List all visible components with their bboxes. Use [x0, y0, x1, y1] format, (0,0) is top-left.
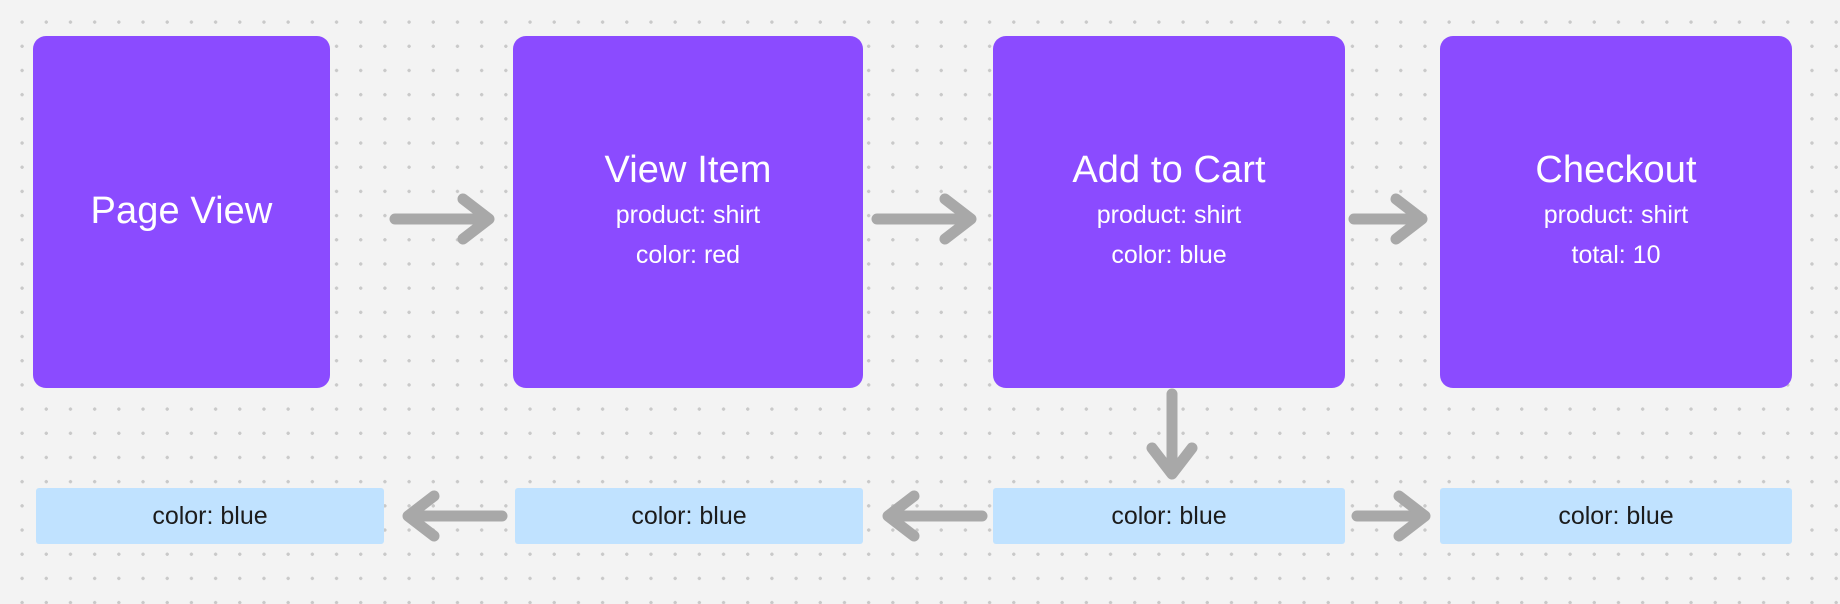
event-node-properties: product: shirt color: blue	[1097, 195, 1242, 276]
event-node-properties: product: shirt total: 10	[1544, 195, 1689, 276]
event-node-title: Page View	[91, 189, 273, 234]
event-node-checkout[interactable]: Checkout product: shirt total: 10	[1440, 36, 1792, 388]
arrow-right-icon-view-item-to-add-to-cart	[875, 192, 985, 246]
event-node-property: product: shirt	[616, 195, 761, 236]
property-node-4[interactable]: color: blue	[1440, 488, 1792, 544]
arrow-left-icon-property-3-to-property-2	[874, 489, 984, 543]
arrow-left-icon-property-2-to-property-1	[394, 489, 504, 543]
arrow-down-icon-add-to-cart-to-property	[1145, 392, 1199, 486]
flow-diagram-canvas: Page View View Item product: shirt color…	[0, 0, 1840, 604]
event-node-property: color: blue	[1111, 235, 1226, 276]
property-node-label: color: blue	[152, 502, 267, 531]
event-node-property: color: red	[636, 235, 740, 276]
event-node-property: product: shirt	[1544, 195, 1689, 236]
event-node-property: product: shirt	[1097, 195, 1242, 236]
property-node-2[interactable]: color: blue	[515, 488, 863, 544]
event-node-title: View Item	[604, 148, 771, 193]
event-node-properties: product: shirt color: red	[616, 195, 761, 276]
event-node-add-to-cart[interactable]: Add to Cart product: shirt color: blue	[993, 36, 1345, 388]
property-node-1[interactable]: color: blue	[36, 488, 384, 544]
event-node-view-item[interactable]: View Item product: shirt color: red	[513, 36, 863, 388]
event-node-page-view[interactable]: Page View	[33, 36, 330, 388]
event-node-property: total: 10	[1572, 235, 1661, 276]
property-node-3[interactable]: color: blue	[993, 488, 1345, 544]
event-node-title: Checkout	[1535, 148, 1696, 193]
property-node-label: color: blue	[1111, 502, 1226, 531]
event-node-title: Add to Cart	[1072, 148, 1265, 193]
property-node-label: color: blue	[1558, 502, 1673, 531]
arrow-right-icon-page-view-to-view-item	[393, 192, 503, 246]
arrow-right-icon-property-3-to-property-4	[1355, 489, 1439, 543]
arrow-right-icon-add-to-cart-to-checkout	[1352, 192, 1436, 246]
property-node-label: color: blue	[631, 502, 746, 531]
